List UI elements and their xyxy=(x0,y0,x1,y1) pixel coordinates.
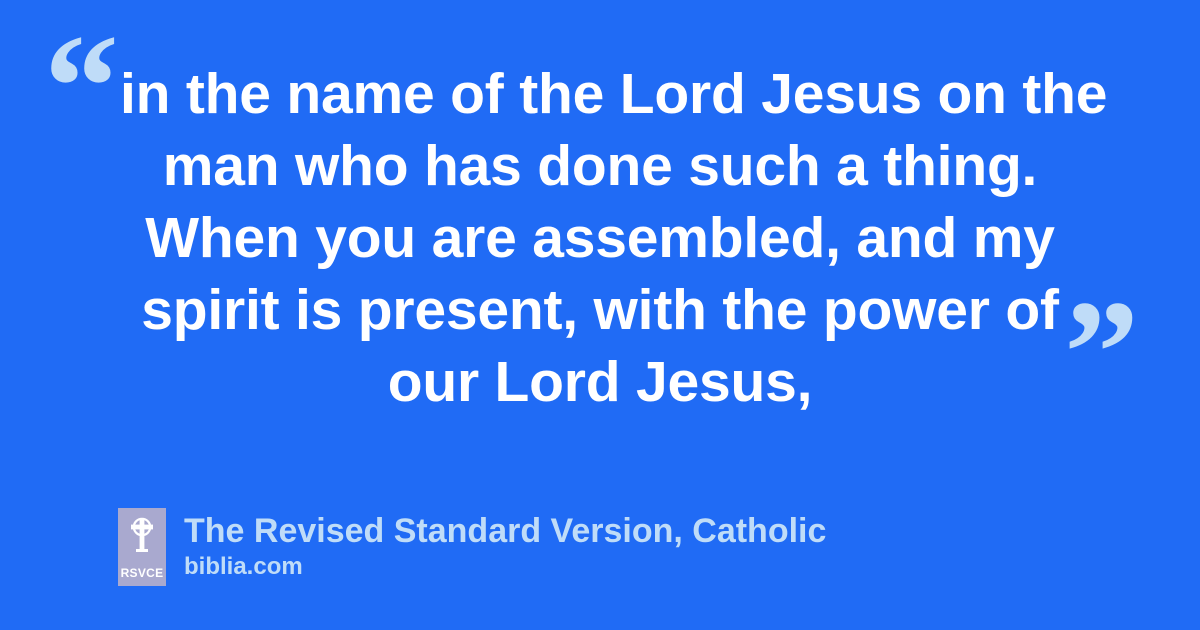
translation-title: The Revised Standard Version, Catholic xyxy=(184,511,826,551)
attribution: RSVCE The Revised Standard Version, Cath… xyxy=(118,508,826,586)
opening-quote-mark-icon: “ xyxy=(44,12,119,162)
source-site[interactable]: biblia.com xyxy=(184,552,826,582)
quote-line: our Lord Jesus, xyxy=(120,346,1080,418)
quote-line: When you are assembled, and my xyxy=(120,202,1080,274)
quote-area: “ in the name of the Lord Jesus on the m… xyxy=(0,0,1200,440)
quote-text: in the name of the Lord Jesus on the man… xyxy=(120,58,1080,418)
bible-verse-quote-card: “ in the name of the Lord Jesus on the m… xyxy=(0,0,1200,630)
celtic-cross-icon xyxy=(127,516,157,554)
closing-quote-mark-icon: ” xyxy=(1064,278,1139,428)
attribution-text: The Revised Standard Version, Catholic b… xyxy=(184,508,826,586)
quote-line: man who has done such a thing. xyxy=(120,130,1080,202)
translation-badge-label: RSVCE xyxy=(121,567,164,579)
translation-badge: RSVCE xyxy=(118,508,166,586)
quote-line: in the name of the Lord Jesus on the xyxy=(120,58,1080,130)
quote-line: spirit is present, with the power of xyxy=(120,274,1080,346)
